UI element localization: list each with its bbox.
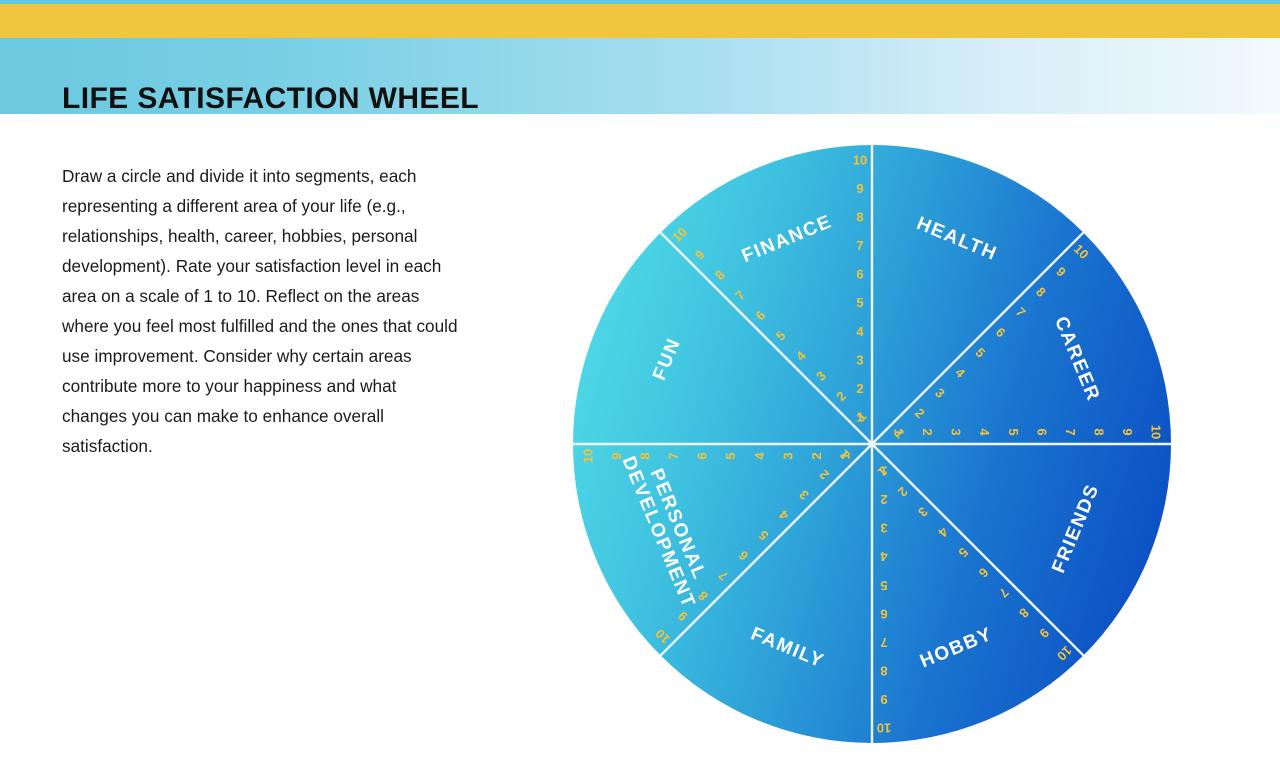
scale-number-spoke-up-10: 10 [853,152,867,167]
scale-number-spoke-down-8: 8 [880,663,887,678]
scale-number-spoke-down-2: 2 [880,492,887,507]
scale-number-spoke-left-3: 3 [780,452,795,459]
yellow-accent-bar [0,4,1280,38]
scale-number-spoke-down-5: 5 [880,578,887,593]
scale-number-spoke-right-5: 5 [1006,428,1021,435]
scale-number-spoke-left-1: 1 [837,452,852,459]
scale-number-spoke-right-3: 3 [949,428,964,435]
scale-number-spoke-down-6: 6 [880,606,887,621]
scale-number-spoke-right-8: 8 [1091,428,1106,435]
scale-number-spoke-right-10: 10 [1149,425,1164,439]
scale-number-spoke-left-2: 2 [809,452,824,459]
scale-number-spoke-left-10: 10 [580,449,595,463]
scale-number-spoke-down-1: 1 [880,464,887,479]
scale-number-spoke-left-6: 6 [695,452,710,459]
scale-number-spoke-up-7: 7 [856,238,863,253]
scale-number-spoke-up-9: 9 [856,181,863,196]
scale-number-spoke-down-9: 9 [880,692,887,707]
scale-number-spoke-up-8: 8 [856,210,863,225]
scale-number-spoke-up-4: 4 [856,324,864,339]
scale-number-spoke-right-7: 7 [1063,428,1078,435]
scale-number-spoke-down-7: 7 [880,635,887,650]
scale-number-spoke-down-10: 10 [877,721,891,736]
wheel-svg: 1234567891012345678910123456789101234567… [560,132,1188,760]
scale-number-spoke-left-5: 5 [723,452,738,459]
scale-number-spoke-up-5: 5 [856,295,863,310]
scale-number-spoke-down-3: 3 [880,521,887,536]
wheel-spokes-group [573,145,1171,743]
scale-number-spoke-left-9: 9 [609,452,624,459]
scale-number-spoke-right-1: 1 [892,428,907,435]
scale-number-spoke-right-9: 9 [1120,428,1135,435]
scale-number-spoke-up-2: 2 [856,381,863,396]
scale-number-spoke-up-3: 3 [856,352,863,367]
life-satisfaction-wheel: 1234567891012345678910123456789101234567… [560,132,1188,760]
scale-number-spoke-right-6: 6 [1034,428,1049,435]
scale-number-spoke-right-4: 4 [977,428,992,436]
description-paragraph: Draw a circle and divide it into segment… [62,161,460,461]
scale-number-spoke-down-4: 4 [880,549,888,564]
scale-number-spoke-left-4: 4 [752,452,767,460]
scale-number-spoke-left-7: 7 [666,452,681,459]
scale-number-spoke-up-6: 6 [856,267,863,282]
page-title: LIFE SATISFACTION WHEEL [62,82,479,116]
scale-number-spoke-right-2: 2 [920,428,935,435]
